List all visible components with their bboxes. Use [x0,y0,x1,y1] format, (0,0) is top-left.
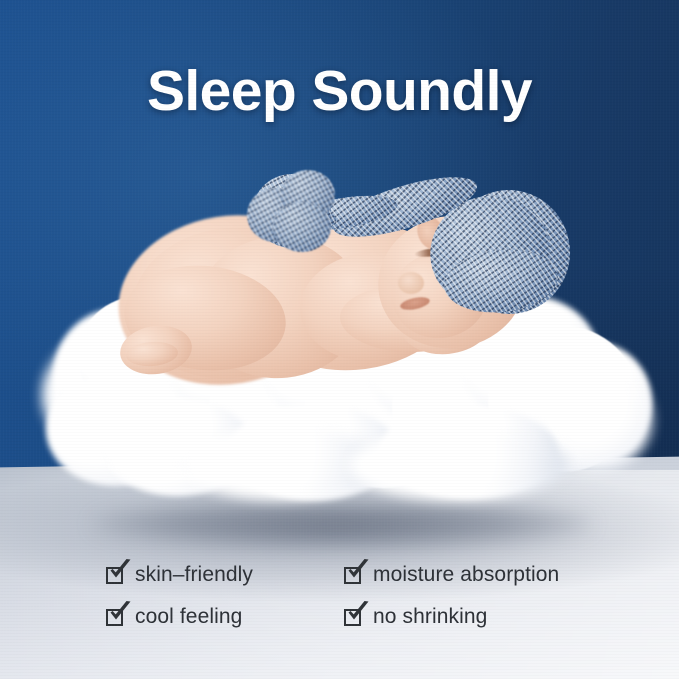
checkmark-icon [345,558,371,584]
feature-item-cool-feeling[interactable]: cool feeling [106,604,344,630]
checkmark-icon [107,600,133,626]
product-banner: Sleep Soundly [0,0,679,679]
feature-item-skin-friendly[interactable]: skin–friendly [106,562,344,588]
checkmark-icon [345,600,371,626]
feature-item-no-shrinking[interactable]: no shrinking [344,604,606,630]
knit-cap-pompom [247,170,339,254]
feature-row: cool feeling no shrinking [106,604,606,630]
feature-label: moisture absorption [373,562,559,588]
feature-row: skin–friendly moisture absorption [106,562,606,588]
checkmark-icon [107,558,133,584]
checked-checkbox-icon[interactable] [344,567,361,584]
checked-checkbox-icon[interactable] [106,567,123,584]
feature-item-moisture-absorption[interactable]: moisture absorption [344,562,606,588]
baby-nose [398,272,424,294]
feature-label: no shrinking [373,604,487,630]
checked-checkbox-icon[interactable] [344,609,361,626]
checked-checkbox-icon[interactable] [106,609,123,626]
feature-label: skin–friendly [135,562,253,588]
feature-list: skin–friendly moisture absorption cool [106,562,606,646]
feature-label: cool feeling [135,604,242,630]
